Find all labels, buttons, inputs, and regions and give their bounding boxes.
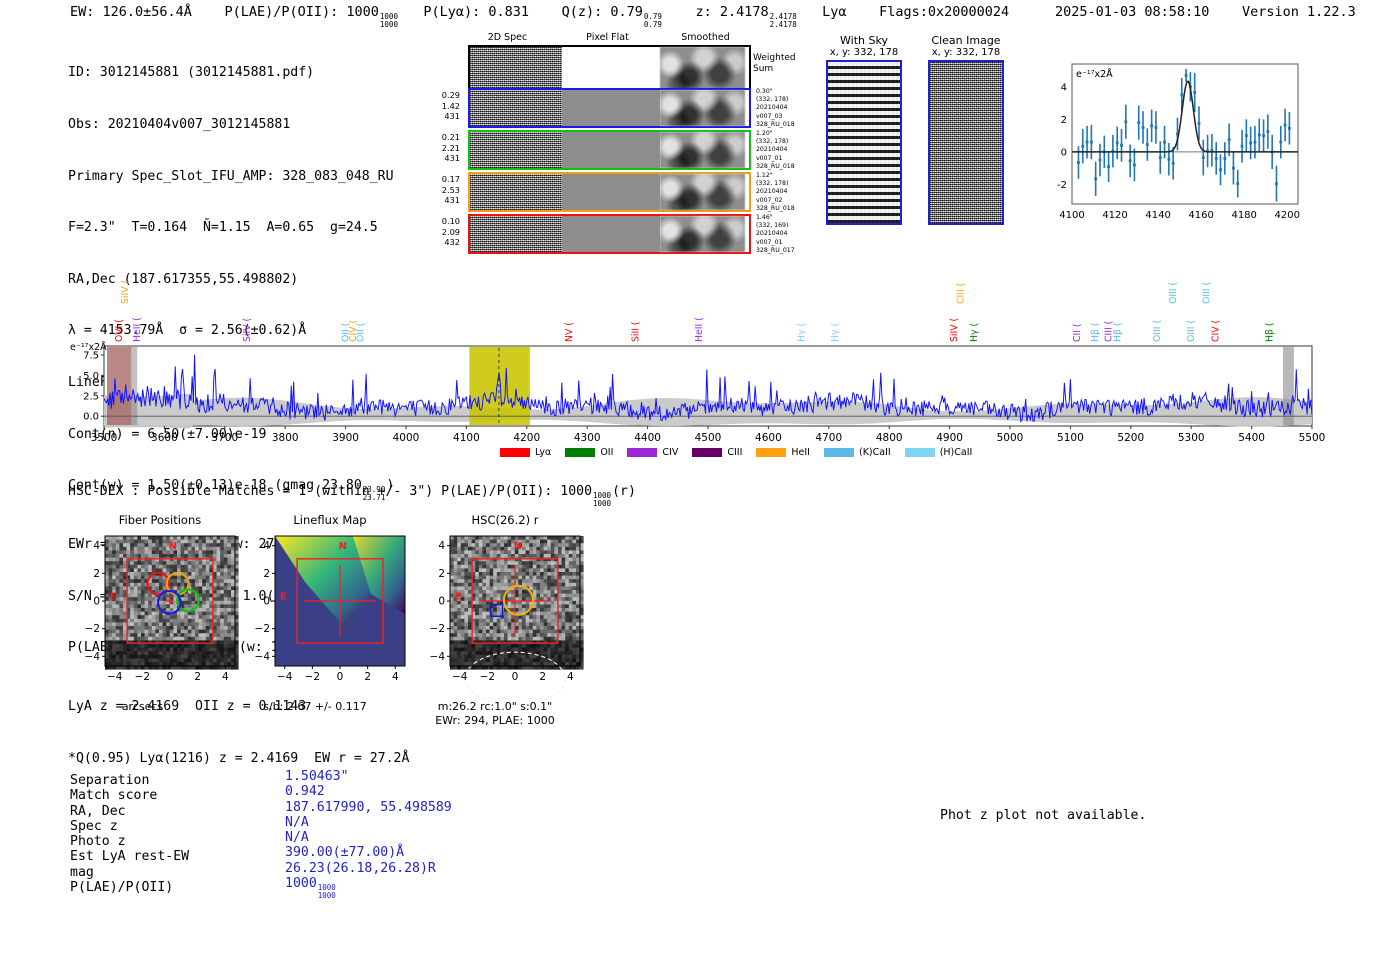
fiber-row-1-images — [468, 130, 751, 170]
svg-text:2: 2 — [364, 671, 371, 683]
svg-text:3500: 3500 — [91, 432, 118, 444]
legend-label: Lyα — [535, 447, 551, 458]
svg-text:SiIV (: SiIV ( — [949, 318, 960, 342]
svg-text:CII (: CII ( — [1072, 323, 1083, 342]
svg-text:E: E — [110, 592, 117, 603]
svg-text:2: 2 — [539, 671, 546, 683]
legend-label: (K)CaII — [859, 447, 891, 458]
svg-text:4400: 4400 — [634, 432, 661, 444]
match-value-photoz: N/A — [285, 830, 452, 845]
svg-text:−2: −2 — [255, 623, 270, 635]
legend-item-heii: HeII — [756, 447, 810, 458]
fiber-1-2dspec — [470, 132, 562, 168]
svg-text:5200: 5200 — [1117, 432, 1144, 444]
info-primary-spec-slot: Primary Spec_Slot_IFU_AMP: 328_083_048_R… — [68, 168, 409, 185]
svg-text:4: 4 — [93, 540, 100, 552]
header-datetime: 2025-01-03 08:58:10 — [1055, 4, 1209, 20]
weighted-sum-2dspec — [470, 47, 562, 90]
legend-label: HeII — [791, 447, 810, 458]
match-value-match-score: 0.942 — [285, 784, 452, 799]
svg-text:OIII (: OIII ( — [1186, 320, 1197, 342]
svg-text:5300: 5300 — [1178, 432, 1205, 444]
fiber-row-2: 0.172.53431 1.12"(332, 178)20210404v007_… — [468, 172, 751, 212]
svg-text:2.5: 2.5 — [83, 391, 99, 402]
line-fit-plot: e⁻¹⁷x2Å410041204140416041804200-2024 — [1040, 54, 1305, 239]
fiber-row-3-meta: 1.46"(332, 169)20210404v007_01328_RU_017 — [756, 214, 795, 255]
svg-text:−2: −2 — [135, 671, 150, 683]
svg-text:4300: 4300 — [574, 432, 601, 444]
svg-text:0: 0 — [263, 596, 270, 608]
match-value-mag: 26.23(26.18,26.28)R — [285, 861, 452, 876]
legend-label: (H)CaII — [940, 447, 973, 458]
svg-text:4900: 4900 — [936, 432, 963, 444]
hscdex-plae-fraction: 10001000 — [593, 492, 611, 508]
svg-text:-2: -2 — [1057, 180, 1067, 191]
with-sky-image — [826, 60, 902, 225]
full-spectrum-svg: OVI (SiIV (HeII (SiIV (OII (CIV (OII (NV… — [60, 268, 1350, 468]
clean-image-coords: x, y: 332, 178 — [928, 47, 1004, 58]
svg-text:3800: 3800 — [272, 432, 299, 444]
svg-text:OVI (: OVI ( — [114, 319, 125, 342]
hscdex-header-text: HSC-DEX : Possible Matches = 1 (within +… — [68, 484, 592, 499]
fiber-row-3-nums: 0.102.09432 — [426, 216, 460, 248]
header-plae-fraction: 10001000 — [380, 13, 398, 29]
fiber-row-1-meta: 1.20"(332, 178)20210404v007_01328_RU_018 — [756, 130, 795, 171]
header-ew: EW: 126.0±56.4Å — [70, 4, 192, 20]
svg-text:HeII (: HeII ( — [694, 317, 705, 342]
fiber-row-2-images — [468, 172, 751, 212]
match-plae-fraction: 10001000 — [318, 884, 336, 900]
header-plae-label: P(LAE)/P(OII): 1000 — [224, 4, 378, 20]
fiber-3-pixelflat — [562, 216, 660, 252]
svg-text:4700: 4700 — [815, 432, 842, 444]
svg-text:CIII (: CIII ( — [956, 283, 967, 304]
fiber-row-3-images — [468, 214, 751, 254]
svg-text:5000: 5000 — [997, 432, 1024, 444]
svg-text:OIII (: OIII ( — [1152, 320, 1163, 342]
svg-text:0.0: 0.0 — [83, 412, 99, 423]
header-plya: P(Lyα): 0.831 — [423, 4, 529, 20]
svg-text:2: 2 — [1061, 115, 1067, 126]
hsc-r-panel: NE−4−4−2−2002244 — [420, 530, 590, 724]
panel-title-fiber-positions: Fiber Positions — [75, 513, 245, 527]
svg-text:−4: −4 — [255, 651, 271, 663]
header-z-fraction: 2.41782.4178 — [770, 13, 797, 29]
info-classification: *Q(0.95) Lyα(1216) z = 2.4169 EW r = 27.… — [68, 750, 409, 767]
match-label-separation: Separation — [70, 773, 189, 788]
legend-label: OII — [600, 447, 613, 458]
match-value-specz: N/A — [285, 815, 452, 830]
svg-text:4: 4 — [567, 671, 574, 683]
svg-text:2: 2 — [93, 568, 100, 580]
svg-text:4800: 4800 — [876, 432, 903, 444]
svg-text:−4: −4 — [107, 671, 123, 683]
svg-text:3600: 3600 — [151, 432, 178, 444]
fiber-row-1: 0.212.21431 1.20"(332, 178)20210404v007_… — [468, 130, 751, 170]
svg-text:4160: 4160 — [1188, 210, 1213, 221]
hscdex-header-tail: (r) — [612, 484, 636, 499]
legend-label: CIII — [727, 447, 742, 458]
svg-text:OIII (: OIII ( — [1168, 282, 1179, 304]
svg-text:E: E — [455, 592, 462, 603]
panel-title-hsc-r: HSC(26.2) r — [420, 513, 590, 527]
svg-text:N: N — [169, 541, 177, 552]
svg-text:4500: 4500 — [695, 432, 722, 444]
lineflux-map-svg: NE−4−4−2−2002244 — [245, 530, 415, 720]
svg-text:2: 2 — [263, 568, 270, 580]
svg-text:3900: 3900 — [332, 432, 359, 444]
fiber-0-2dspec — [470, 90, 562, 126]
svg-text:−4: −4 — [85, 651, 101, 663]
svg-text:−2: −2 — [85, 623, 100, 635]
svg-text:0: 0 — [512, 671, 519, 683]
weighted-sum-label: Weighted Sum — [753, 53, 796, 75]
fiber-0-smoothed — [660, 90, 745, 126]
clean-image-title: Clean Image — [928, 34, 1004, 47]
legend-label: CIV — [662, 447, 678, 458]
svg-text:4600: 4600 — [755, 432, 782, 444]
svg-text:−2: −2 — [480, 671, 495, 683]
header-z-label: z: 2.4178 — [696, 4, 769, 20]
lineflux-map-panel: NE−4−4−2−2002244 — [245, 530, 415, 724]
svg-text:4120: 4120 — [1102, 210, 1127, 221]
svg-text:N: N — [339, 541, 347, 552]
svg-text:4: 4 — [1061, 82, 1067, 93]
svg-text:3700: 3700 — [211, 432, 238, 444]
match-value-plae-poii: 100010001000 — [285, 876, 452, 899]
with-sky-title: With Sky — [826, 34, 902, 47]
legend-item-ciii: CIII — [692, 447, 742, 458]
legend-swatch — [692, 448, 722, 457]
legend-swatch — [824, 448, 854, 457]
header-datetime-version: 2025-01-03 08:58:10 Version 1.22.3 — [1055, 4, 1356, 20]
weighted-sum-smoothed — [660, 47, 745, 90]
fiber-row-0-meta: 0.30"(332, 178)20210404v007_03328_RU_018 — [756, 88, 795, 129]
match-label-specz: Spec z — [70, 819, 189, 834]
svg-text:2: 2 — [438, 568, 445, 580]
hsc-r-caption2: EWr: 294, PLAE: 1000 — [415, 714, 575, 727]
info-seeing-throughput: F=2.3" T=0.164 N̄=1.15 A=0.65 g=24.5 — [68, 219, 409, 236]
legend-swatch — [565, 448, 595, 457]
svg-text:4200: 4200 — [1275, 210, 1300, 221]
weighted-sum-pixelflat — [562, 47, 660, 90]
col-title-2dspec: 2D Spec — [460, 32, 555, 43]
svg-text:0: 0 — [167, 671, 174, 683]
svg-text:5500: 5500 — [1299, 432, 1326, 444]
col-title-smoothed: Smoothed — [658, 32, 753, 43]
svg-text:N: N — [514, 541, 522, 552]
svg-text:5.0: 5.0 — [83, 371, 99, 382]
legend-item-civ: CIV — [627, 447, 678, 458]
col-title-pixelflat: Pixel Flat — [560, 32, 655, 43]
svg-text:OII (: OII ( — [356, 323, 367, 342]
info-id: ID: 3012145881 (3012145881.pdf) — [68, 64, 409, 81]
match-table-labels: Separation Match score RA, Dec Spec z Ph… — [70, 773, 189, 895]
legend-item-ly: Lyα — [500, 447, 551, 458]
hsc-r-svg: NE−4−4−2−2002244 — [420, 530, 590, 720]
svg-text:E: E — [280, 592, 287, 603]
svg-text:Hγ (: Hγ ( — [797, 323, 808, 342]
svg-text:Hβ (: Hβ ( — [1265, 322, 1276, 342]
svg-text:Hβ (: Hβ ( — [1113, 322, 1124, 342]
match-value-est-lya-rest-ew: 390.00(±77.00)Å — [285, 845, 452, 860]
header-flags: Flags:0x20000024 — [879, 4, 1009, 20]
hscdex-header: HSC-DEX : Possible Matches = 1 (within +… — [68, 484, 636, 507]
svg-text:4180: 4180 — [1231, 210, 1256, 221]
svg-text:CIV (: CIV ( — [1210, 320, 1221, 342]
svg-text:7.5: 7.5 — [83, 350, 99, 361]
match-label-mag: mag — [70, 865, 189, 880]
header-z-line: Lyα — [822, 4, 846, 20]
svg-text:Hβ (: Hβ ( — [1090, 322, 1101, 342]
svg-text:4000: 4000 — [393, 432, 420, 444]
fiber-row-1-nums: 0.212.21431 — [426, 132, 460, 164]
match-value-radec: 187.617990, 55.498589 — [285, 800, 452, 815]
fiber-positions-svg: NE−4−4−2−2002244 — [75, 530, 245, 720]
svg-text:−2: −2 — [430, 623, 445, 635]
svg-text:4: 4 — [222, 671, 229, 683]
svg-text:0: 0 — [93, 596, 100, 608]
header-version: Version 1.22.3 — [1242, 4, 1356, 20]
legend-swatch — [756, 448, 786, 457]
clean-image-panel: Clean Image x, y: 332, 178 — [928, 34, 1004, 225]
svg-text:−4: −4 — [452, 671, 468, 683]
svg-text:Hγ (: Hγ ( — [969, 323, 980, 342]
photz-plot-message: Phot z plot not available. — [940, 808, 1146, 823]
fiber-row-0-nums: 0.291.42431 — [426, 90, 460, 122]
fiber-row-3: 0.102.09432 1.46"(332, 169)20210404v007_… — [468, 214, 751, 254]
svg-text:4: 4 — [392, 671, 399, 683]
legend-swatch — [500, 448, 530, 457]
header-summary-line: EW: 126.0±56.4Å P(LAE)/P(OII): 100010001… — [70, 4, 1009, 28]
svg-text:4100: 4100 — [453, 432, 480, 444]
svg-text:OIII (: OIII ( — [1201, 282, 1212, 304]
with-sky-panel: With Sky x, y: 332, 178 — [826, 34, 902, 225]
fiber-positions-xlabel: arcsecs — [75, 700, 210, 713]
svg-text:SiIV (: SiIV ( — [242, 318, 253, 342]
svg-text:5100: 5100 — [1057, 432, 1084, 444]
panel-title-lineflux-map: Lineflux Map — [245, 513, 415, 527]
header-qz-fraction: 0.790.79 — [644, 13, 662, 29]
line-fit-svg: e⁻¹⁷x2Å410041204140416041804200-2024 — [1040, 54, 1305, 239]
svg-text:NV (: NV ( — [564, 322, 575, 342]
fiber-1-smoothed — [660, 132, 745, 168]
fiber-2-smoothed — [660, 174, 745, 210]
fiber-3-smoothed — [660, 216, 745, 252]
svg-text:SiII (: SiII ( — [631, 321, 642, 342]
svg-text:HeII (: HeII ( — [132, 317, 143, 342]
spectrum-legend: LyαOIICIVCIIIHeII(K)CaII(H)CaII — [500, 447, 986, 458]
svg-text:0: 0 — [1061, 147, 1067, 158]
svg-text:4140: 4140 — [1145, 210, 1170, 221]
header-qz-label: Q(z): 0.79 — [562, 4, 643, 20]
legend-item-oii: OII — [565, 447, 613, 458]
svg-text:Hγ (: Hγ ( — [830, 323, 841, 342]
legend-item-kcaii: (K)CaII — [824, 447, 891, 458]
svg-text:SiIV (: SiIV ( — [120, 280, 131, 304]
match-label-photoz: Photo z — [70, 834, 189, 849]
svg-text:−2: −2 — [305, 671, 320, 683]
svg-text:2: 2 — [194, 671, 201, 683]
legend-swatch — [905, 448, 935, 457]
svg-text:4: 4 — [263, 540, 270, 552]
fiber-3-2dspec — [470, 216, 562, 252]
clean-image-image — [928, 60, 1004, 225]
fiber-row-2-nums: 0.172.53431 — [426, 174, 460, 206]
full-spectrum-plot: OVI (SiIV (HeII (SiIV (OII (CIV (OII (NV… — [60, 268, 1350, 468]
fiber-1-pixelflat — [562, 132, 660, 168]
match-table-values: 1.50463" 0.942 187.617990, 55.498589 N/A… — [285, 769, 452, 899]
svg-text:4: 4 — [438, 540, 445, 552]
match-label-radec: RA, Dec — [70, 804, 189, 819]
match-label-match-score: Match score — [70, 788, 189, 803]
legend-item-hcaii: (H)CaII — [905, 447, 973, 458]
svg-text:0: 0 — [438, 596, 445, 608]
fiber-2-pixelflat — [562, 174, 660, 210]
svg-text:5400: 5400 — [1238, 432, 1265, 444]
fiber-positions-panel: NE−4−4−2−2002244 — [75, 530, 245, 724]
svg-text:e⁻¹⁷x2Å: e⁻¹⁷x2Å — [1076, 68, 1113, 80]
svg-text:0: 0 — [337, 671, 344, 683]
match-label-plae-poii: P(LAE)/P(OII) — [70, 880, 189, 895]
hsc-r-xlabel: m:26.2 rc:1.0" s:0.1" — [415, 700, 575, 713]
weighted-sum-row — [468, 45, 751, 92]
match-value-separation: 1.50463" — [285, 769, 452, 784]
fiber-0-pixelflat — [562, 90, 660, 126]
fiber-row-0-images — [468, 88, 751, 128]
lineflux-map-xlabel: s/b: 2.67 +/- 0.117 — [240, 700, 390, 713]
svg-text:4100: 4100 — [1059, 210, 1084, 221]
match-label-est-lya-rest-ew: Est LyA rest-EW — [70, 849, 189, 864]
svg-text:4200: 4200 — [513, 432, 540, 444]
svg-text:−4: −4 — [430, 651, 446, 663]
svg-text:−4: −4 — [277, 671, 293, 683]
info-obs: Obs: 20210404v007_3012145881 — [68, 116, 409, 133]
legend-swatch — [627, 448, 657, 457]
with-sky-coords: x, y: 332, 178 — [826, 47, 902, 58]
fiber-row-2-meta: 1.12"(332, 178)20210404v007_02328_RU_018 — [756, 172, 795, 213]
fiber-row-0: 0.291.42431 0.30"(332, 178)20210404v007_… — [468, 88, 751, 128]
fiber-2-2dspec — [470, 174, 562, 210]
